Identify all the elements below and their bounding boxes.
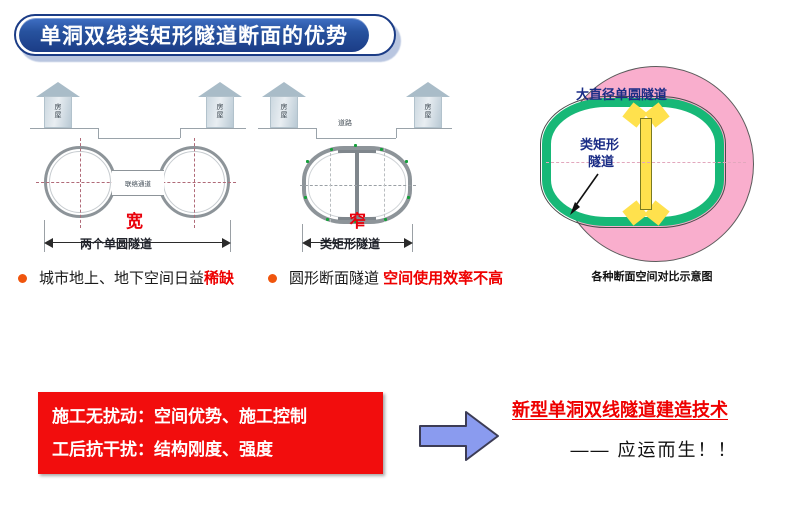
left-diagram-caption: 两个单圆隧道	[80, 235, 152, 252]
quasi-rect-tunnel-label-line2: 隧道	[580, 153, 619, 170]
joint-dot	[330, 148, 333, 151]
dimension-word-narrow: 窄	[349, 207, 366, 232]
bullet-1-plain: 城市地上、地下空间日益	[39, 270, 204, 287]
bullet-2-highlight: 空间使用效率不高	[383, 270, 503, 287]
benefits-line-1: 施工无扰动：空间优势、施工控制	[52, 400, 383, 433]
dimension-word-wide: 宽	[126, 207, 143, 232]
road-label: 道路	[338, 118, 352, 128]
callout-arrow-icon	[566, 172, 602, 216]
quasi-rect-tunnel-label: 类矩形 隧道	[580, 136, 619, 170]
cross-section-comparison-figure: 大直径单圆隧道 类矩形 隧道 各种断面空间对比示意图	[534, 62, 770, 282]
bullet-marker-icon	[268, 274, 277, 283]
bullet-2-plain: 圆形断面隧道	[289, 270, 383, 287]
bullet-1-highlight: 稀缺	[204, 270, 234, 287]
slide-canvas: 单洞双线类矩形隧道断面的优势 房屋 房屋	[0, 0, 800, 521]
cross-passage-label: 联络通道	[125, 178, 151, 188]
joint-dot	[306, 160, 309, 163]
page-title: 单洞双线类矩形隧道断面的优势	[14, 14, 404, 60]
conclusion-subline: —— 应运而生！！	[512, 436, 796, 462]
right-arrow-icon	[418, 408, 502, 464]
ground-line	[258, 78, 454, 148]
comparison-caption: 各种断面空间对比示意图	[534, 268, 770, 284]
bullet-text-2: 圆形断面隧道 空间使用效率不高	[289, 268, 503, 290]
title-text: 单洞双线类矩形隧道断面的优势	[40, 20, 348, 50]
joint-dot	[326, 218, 329, 221]
benefits-callout-box: 施工无扰动：空间优势、施工控制 工后抗干扰：结构刚度、强度	[38, 392, 383, 474]
quasi-rect-tunnel-label-line1: 类矩形	[580, 137, 619, 152]
right-diagram-quasi-rectangular-tunnel: 房屋 房屋 道路	[258, 78, 454, 253]
bullet-item-1: 城市地上、地下空间日益稀缺	[18, 268, 268, 290]
joint-dot	[354, 144, 357, 147]
cross-passage: 联络通道	[112, 170, 164, 196]
joint-dot	[380, 148, 383, 151]
large-circle-tunnel-label: 大直径单圆隧道	[576, 84, 667, 103]
joint-dot	[384, 218, 387, 221]
center-axis-dashed-line	[546, 162, 746, 163]
joint-dot	[405, 160, 408, 163]
bullet-text-1: 城市地上、地下空间日益稀缺	[39, 268, 234, 290]
bullet-marker-icon	[18, 274, 27, 283]
center-column	[640, 118, 652, 210]
conclusion-headline: 新型单洞双线隧道建造技术	[512, 396, 796, 422]
bullet-item-2: 圆形断面隧道 空间使用效率不高	[268, 268, 528, 290]
benefits-line-2: 工后抗干扰：结构刚度、强度	[52, 433, 383, 466]
conclusion-block: 新型单洞双线隧道建造技术 —— 应运而生！！	[512, 396, 796, 462]
left-diagram-two-circular-tunnels: 房屋 房屋 联络通道	[22, 78, 254, 253]
title-pill: 单洞双线类矩形隧道断面的优势	[19, 18, 369, 52]
joint-dot	[407, 196, 410, 199]
joint-dot	[304, 196, 307, 199]
right-diagram-caption: 类矩形隧道	[320, 235, 380, 252]
